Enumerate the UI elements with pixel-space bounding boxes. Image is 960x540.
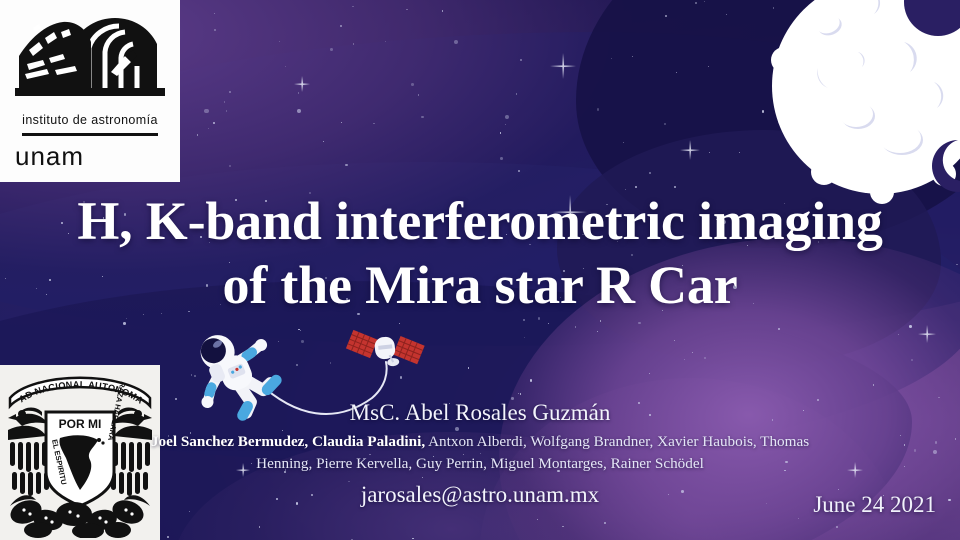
- star: [518, 393, 519, 394]
- star: [226, 110, 228, 112]
- star: [904, 444, 905, 445]
- star: [298, 92, 300, 94]
- star: [935, 441, 938, 444]
- star: [817, 399, 819, 401]
- star: [353, 43, 355, 45]
- star: [709, 152, 710, 153]
- star: [704, 357, 706, 359]
- star: [911, 359, 913, 361]
- star: [597, 331, 598, 332]
- coauthor-list: Joel Sanchez Bermudez, Claudia Paladini,…: [150, 431, 810, 474]
- star: [684, 359, 685, 360]
- sparkle-star: [918, 325, 936, 343]
- instituto-de-astronomia-logo: instituto de astronomía unam: [0, 0, 180, 182]
- star: [189, 511, 190, 512]
- star: [604, 522, 606, 524]
- star: [632, 56, 633, 57]
- star: [909, 325, 912, 328]
- star: [297, 109, 301, 113]
- star: [778, 328, 780, 330]
- star: [442, 10, 444, 12]
- star: [575, 326, 577, 328]
- star: [214, 13, 215, 14]
- star: [948, 499, 951, 502]
- star: [197, 134, 199, 136]
- star: [638, 322, 641, 325]
- observatory-dome-icon: [15, 10, 165, 106]
- star: [468, 367, 470, 369]
- star: [611, 58, 612, 59]
- star: [285, 66, 286, 67]
- star: [900, 435, 901, 436]
- star: [204, 109, 208, 113]
- sparkle-star: [294, 76, 310, 92]
- star: [914, 449, 917, 452]
- star: [524, 337, 525, 338]
- star: [537, 519, 538, 520]
- presentation-date: June 24 2021: [813, 492, 936, 518]
- star: [518, 170, 520, 172]
- star: [214, 29, 216, 31]
- institute-label: instituto de astronomía: [22, 113, 158, 127]
- seal-motto-top: POR MI: [59, 417, 102, 431]
- star: [323, 141, 324, 142]
- star: [373, 123, 374, 124]
- star: [418, 94, 419, 95]
- star: [674, 340, 675, 341]
- page-title: H, K-band interferometric imaging of the…: [0, 190, 960, 317]
- star: [873, 384, 875, 386]
- star: [385, 41, 386, 42]
- logo-divider: [22, 133, 158, 136]
- star: [330, 48, 333, 51]
- star: [500, 132, 502, 134]
- star: [516, 93, 518, 95]
- star: [279, 41, 280, 42]
- contact-email: jarosales@astro.unam.mx: [150, 482, 810, 508]
- star: [562, 526, 563, 527]
- star: [224, 101, 226, 103]
- star: [520, 59, 522, 61]
- star: [704, 1, 705, 2]
- star: [665, 15, 667, 17]
- star: [530, 379, 533, 382]
- star: [726, 14, 727, 15]
- star: [649, 373, 650, 374]
- star: [523, 319, 525, 321]
- presentation-title-slide: instituto de astronomía unam UNIVERSIDAD…: [0, 0, 960, 540]
- star: [505, 124, 506, 125]
- star: [208, 128, 210, 130]
- star: [167, 536, 169, 538]
- star: [597, 108, 600, 111]
- star: [352, 6, 354, 8]
- star: [421, 116, 424, 119]
- star: [406, 9, 407, 10]
- star: [635, 186, 637, 188]
- star: [340, 25, 342, 27]
- star: [674, 186, 676, 188]
- star: [623, 142, 624, 143]
- star: [412, 538, 413, 539]
- star: [838, 489, 839, 490]
- star: [938, 397, 940, 399]
- star: [708, 66, 709, 67]
- star: [123, 322, 126, 325]
- unam-label: unam: [15, 141, 84, 172]
- star: [213, 122, 215, 124]
- star: [933, 450, 937, 454]
- sparkle-star: [680, 140, 700, 160]
- star: [505, 115, 509, 119]
- coauthors-highlighted: Joel Sanchez Bermudez, Claudia Paladini,: [151, 433, 425, 450]
- unam-coat-of-arms: UNIVERSIDAD NACIONAL AUTONOMA D MEXICO: [0, 365, 160, 540]
- star: [692, 352, 693, 353]
- star: [739, 152, 740, 153]
- star: [454, 40, 458, 44]
- credits-block: MsC. Abel Rosales Guzmán Joel Sanchez Be…: [150, 398, 810, 508]
- star: [664, 123, 666, 125]
- title-line-2: of the Mira star R Car: [18, 254, 942, 318]
- sparkle-star: [550, 53, 576, 79]
- moon-illustration: [762, 0, 960, 214]
- star: [345, 164, 348, 167]
- star: [898, 334, 899, 335]
- star: [600, 320, 601, 321]
- presenter-name: MsC. Abel Rosales Guzmán: [150, 398, 810, 427]
- star: [836, 526, 838, 528]
- star: [229, 165, 231, 167]
- star: [520, 393, 522, 395]
- star: [411, 83, 414, 86]
- star: [695, 2, 697, 4]
- sparkle-star: [847, 462, 863, 478]
- star: [798, 518, 799, 519]
- star: [548, 323, 549, 324]
- star: [229, 91, 231, 93]
- title-line-1: H, K-band interferometric imaging: [18, 190, 942, 254]
- star: [676, 72, 677, 73]
- star: [955, 438, 957, 440]
- star: [649, 172, 651, 174]
- star: [904, 466, 905, 467]
- star: [500, 157, 503, 160]
- satellite: [345, 322, 424, 377]
- star: [341, 122, 342, 123]
- star: [259, 526, 260, 527]
- solar-panel-left: [346, 330, 378, 358]
- star: [126, 318, 127, 319]
